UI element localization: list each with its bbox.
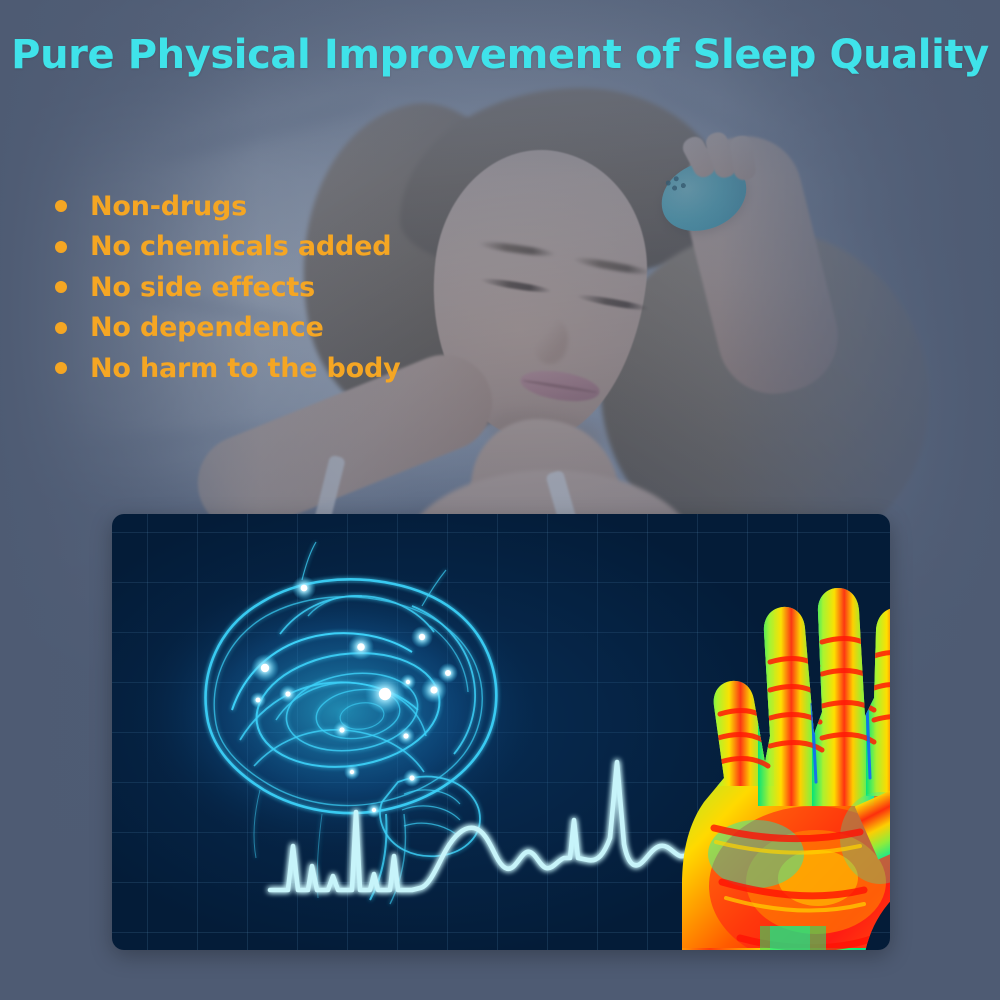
thermal-hand-image xyxy=(654,576,890,950)
benefit-label: Non-drugs xyxy=(90,191,247,222)
bullet-dot-icon xyxy=(55,362,67,374)
science-panel xyxy=(112,514,890,950)
benefit-label: No harm to the body xyxy=(90,353,401,384)
bullet-dot-icon xyxy=(55,281,67,293)
bullet-dot-icon xyxy=(55,241,67,253)
list-item: No harm to the body xyxy=(55,348,401,389)
list-item: No side effects xyxy=(55,267,401,308)
page-title: Pure Physical Improvement of Sleep Quali… xyxy=(0,32,1000,78)
poster-canvas: Pure Physical Improvement of Sleep Quali… xyxy=(0,0,1000,1000)
benefit-label: No dependence xyxy=(90,312,324,343)
benefits-list: Non-drugs No chemicals added No side eff… xyxy=(55,186,401,389)
bullet-dot-icon xyxy=(55,200,67,212)
list-item: No dependence xyxy=(55,308,401,349)
bullet-dot-icon xyxy=(55,322,67,334)
list-item: No chemicals added xyxy=(55,227,401,268)
panel-artwork xyxy=(112,514,890,950)
benefit-label: No chemicals added xyxy=(90,231,391,262)
benefit-label: No side effects xyxy=(90,272,315,303)
list-item: Non-drugs xyxy=(55,186,401,227)
